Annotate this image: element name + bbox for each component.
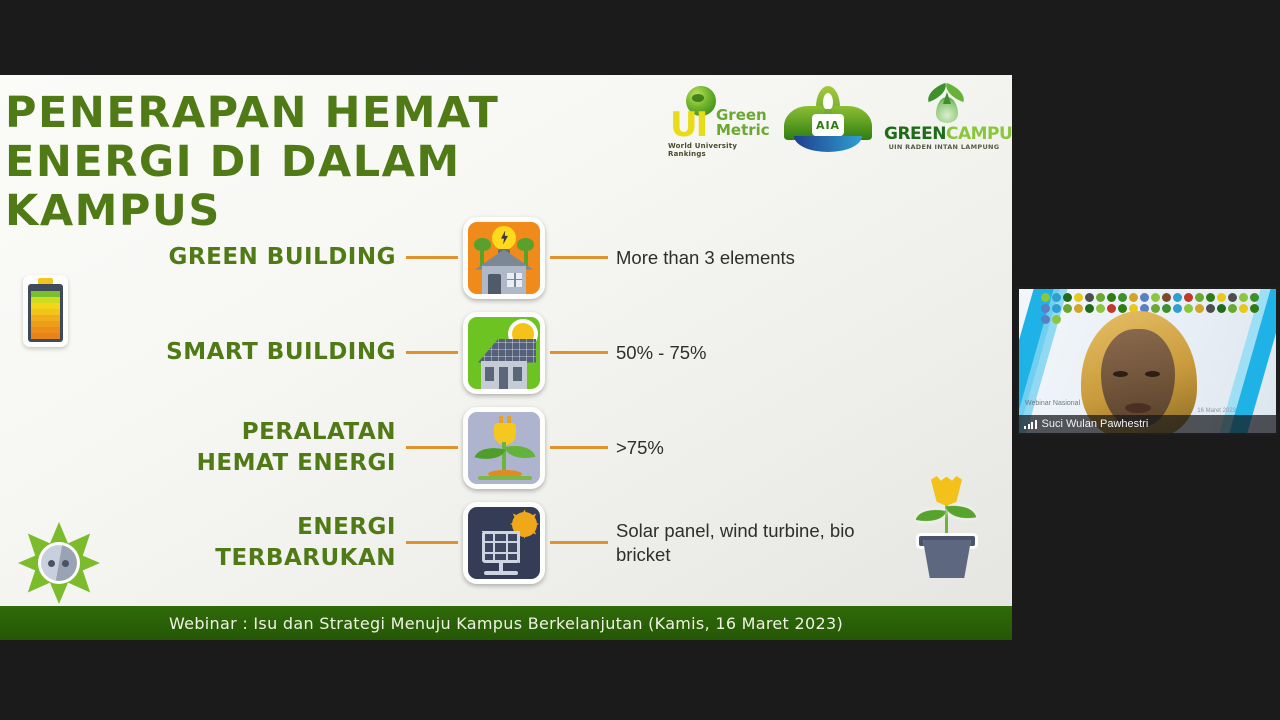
greencampus-tagline: UIN RADEN INTAN LAMPUNG (884, 143, 1004, 151)
water-drop-icon (936, 97, 958, 123)
greencampus-word2: CAMPUS (946, 124, 1012, 144)
ui-greenmetric-tagline: World University Rankings (668, 142, 772, 158)
connector-line-left (406, 351, 458, 354)
row-value-smart-building: 50% - 75% (608, 341, 908, 365)
signal-bars-icon (1024, 420, 1037, 429)
ui-greenmetric-mark: UI (670, 108, 706, 142)
table-row: SMART BUILDING 50% - 75% (150, 305, 1010, 400)
green-building-icon (463, 217, 545, 299)
sun-power-socket-icon (18, 522, 100, 604)
tulip-pot-icon (905, 470, 987, 580)
video-background-date: 16 Maret 2023 (1197, 407, 1236, 415)
table-row: GREEN BUILDING More than 3 elements (150, 210, 1010, 305)
connector-line-right (550, 351, 608, 354)
connector-line-right (550, 256, 608, 259)
greencampus-logo: GREENCAMPUS UIN RADEN INTAN LAMPUNG (884, 84, 1004, 156)
presentation-slide: PENERAPAN HEMAT ENERGI DI DALAM KAMPUS U… (0, 75, 1012, 640)
row-value-energi-terbarukan: Solar panel, wind turbine, bio bricket (608, 519, 908, 567)
connector-line-left (406, 446, 458, 449)
table-row: ENERGI TERBARUKAN Solar panel, wind turb… (150, 495, 1010, 590)
connector-line-right (550, 446, 608, 449)
aia-lotus-logo: AIA (782, 84, 874, 156)
participant-face (1101, 329, 1175, 427)
row-label-green-building: GREEN BUILDING (150, 242, 400, 273)
video-participant-tile[interactable]: Webinar Nasional 16 Maret 2023 Suci Wula… (1017, 287, 1278, 435)
open-book-icon (794, 136, 862, 152)
connector-line-right (550, 541, 608, 544)
row-value-green-building: More than 3 elements (608, 246, 908, 270)
row-label-smart-building: SMART BUILDING (150, 337, 400, 368)
screen: PENERAPAN HEMAT ENERGI DI DALAM KAMPUS U… (0, 0, 1280, 720)
connector-line-left (406, 541, 458, 544)
row-label-energi-terbarukan: ENERGI TERBARUKAN (150, 512, 400, 574)
solar-panel-icon (463, 502, 545, 584)
row-value-peralatan-hemat-energi: >75% (608, 436, 908, 460)
greencampus-wordmark: GREENCAMPUS (884, 124, 1004, 144)
row-label-peralatan-hemat-energi: PERALATAN HEMAT ENERGI (150, 417, 400, 479)
participant-name: Suci Wulan Pawhestri (1042, 418, 1149, 430)
ui-greenmetric-wordmark: Green Metric (716, 108, 770, 138)
logo-strip: UI Green Metric World University Ranking… (664, 81, 1004, 159)
ui-greenmetric-line2: Metric (716, 123, 770, 138)
video-background-watermark: Webinar Nasional (1025, 400, 1080, 407)
participant-name-bar: Suci Wulan Pawhestri (1019, 415, 1276, 433)
aia-mark: AIA (812, 114, 844, 136)
greencampus-word1: GREEN (884, 124, 946, 144)
battery-icon (23, 275, 68, 347)
energy-saving-plug-plant-icon (463, 407, 545, 489)
banner-text: Webinar : Isu dan Strategi Menuju Kampus… (169, 614, 843, 633)
slide-footer-banner: Webinar : Isu dan Strategi Menuju Kampus… (0, 606, 1012, 640)
table-row: PERALATAN HEMAT ENERGI >75% (150, 400, 1010, 495)
smart-building-icon (463, 312, 545, 394)
connector-line-left (406, 256, 458, 259)
ui-greenmetric-logo: UI Green Metric World University Ranking… (664, 84, 772, 156)
